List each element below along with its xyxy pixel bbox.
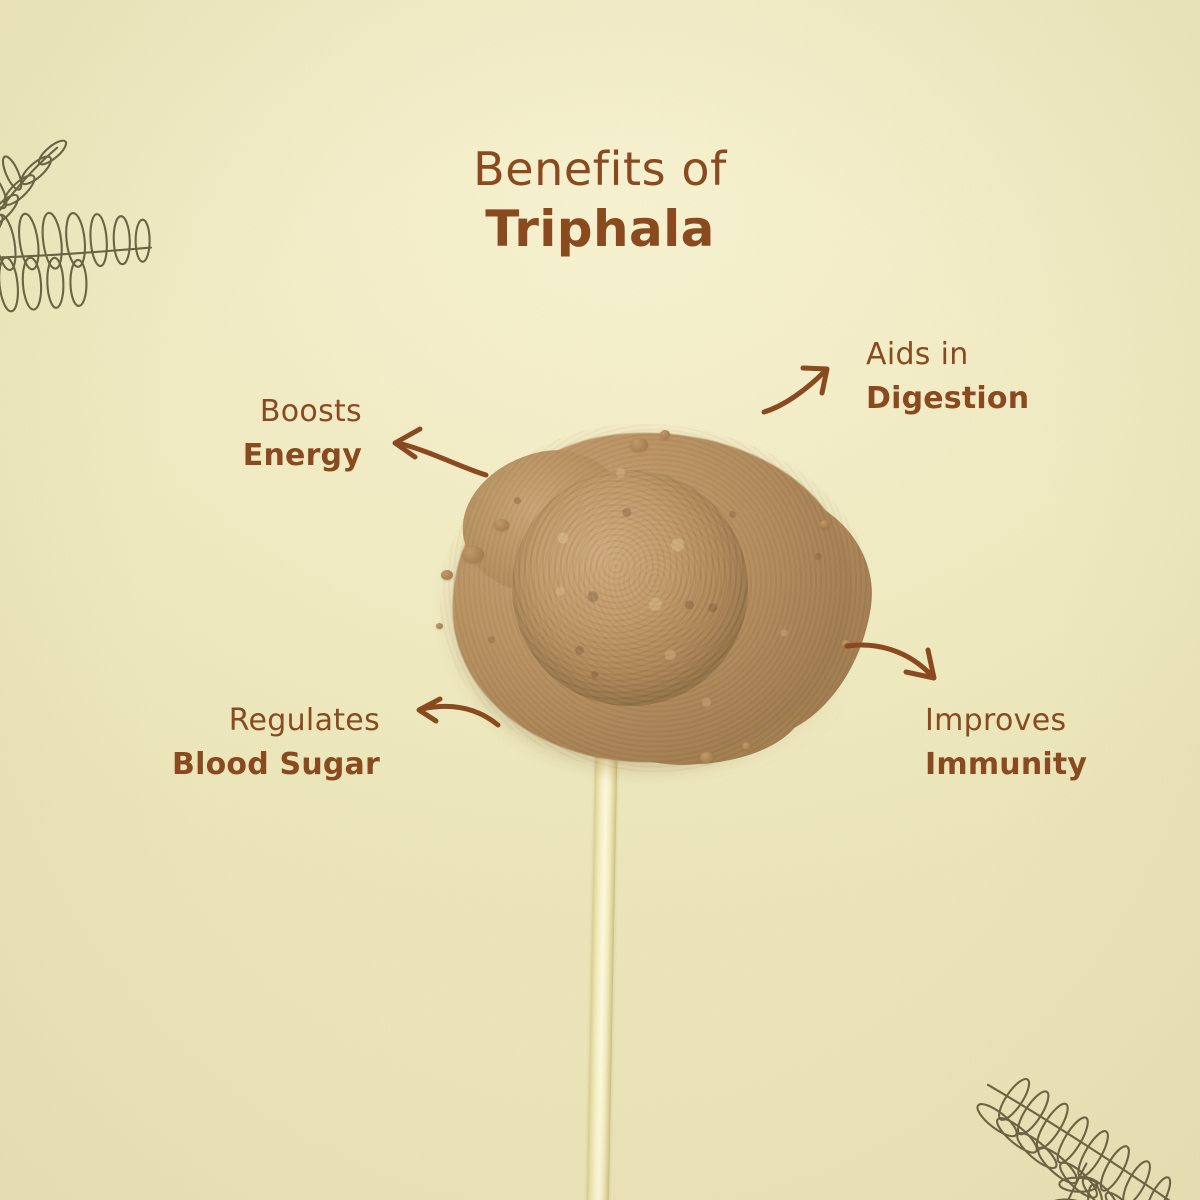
benefit-lead-immunity: Improves xyxy=(925,701,1087,740)
powder-crumb xyxy=(494,519,509,531)
powder-crumb xyxy=(441,570,453,580)
powder-crumb xyxy=(630,438,648,452)
benefit-label-energy: Boosts Energy xyxy=(243,392,362,475)
title-line-2: Triphala xyxy=(0,204,1200,255)
benefit-lead-blood-sugar: Regulates xyxy=(172,701,380,740)
benefit-lead-digestion: Aids in xyxy=(866,335,1029,374)
benefit-label-blood-sugar: Regulates Blood Sugar xyxy=(172,701,380,784)
powder-crumb xyxy=(842,640,850,647)
powder-crumb xyxy=(462,546,484,563)
powder-granular-texture xyxy=(440,424,870,772)
benefit-strong-energy: Energy xyxy=(243,436,362,475)
powder-crumb xyxy=(742,742,751,750)
spoon-handle xyxy=(587,722,618,1200)
benefit-strong-blood-sugar: Blood Sugar xyxy=(172,745,380,784)
benefit-strong-immunity: Immunity xyxy=(925,745,1087,784)
page-title: Benefits of Triphala xyxy=(0,146,1200,255)
benefit-label-immunity: Improves Immunity xyxy=(925,701,1087,784)
powder-crumb xyxy=(700,752,714,763)
title-line-1: Benefits of xyxy=(0,146,1200,193)
benefit-strong-digestion: Digestion xyxy=(866,379,1029,418)
powder-crumb xyxy=(660,430,670,439)
benefit-lead-energy: Boosts xyxy=(243,392,362,431)
powder-crumb xyxy=(436,623,443,629)
infographic-poster: Benefits of Triphala Aids in Digestion B… xyxy=(0,0,1200,1200)
benefit-label-digestion: Aids in Digestion xyxy=(866,335,1029,418)
powder-crumb xyxy=(820,520,829,528)
